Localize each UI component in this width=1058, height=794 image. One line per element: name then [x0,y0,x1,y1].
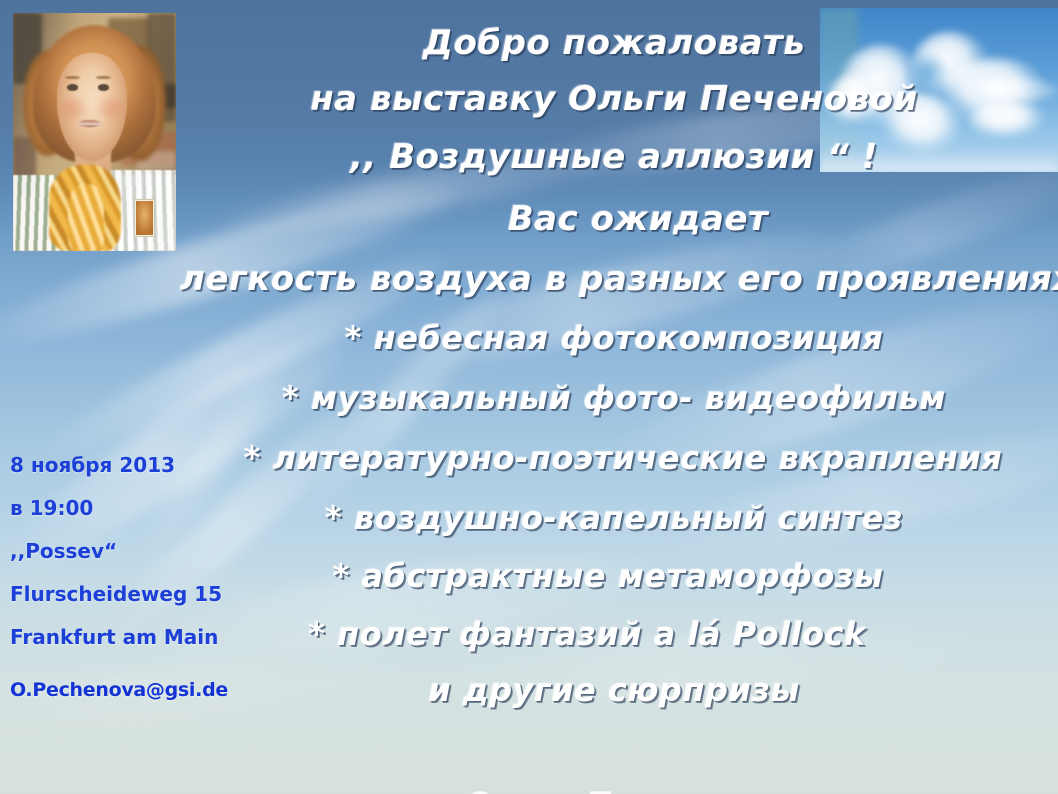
event-details-sidebar: 8 ноября 2013 в 19:00 ,,Possev“ Flursche… [10,455,310,701]
bullet-video-film: * музыкальный фото- видеофильм [180,382,1048,414]
portrait-eyebrow-left [65,76,80,79]
headline-lead-in: легкость воздуха в разных его проявления… [180,262,1048,296]
event-venue: ,,Possev“ [10,541,310,561]
poster-canvas: Добро пожаловать на выставку Ольги Печен… [0,0,1058,794]
portrait-eyebrow-right [96,76,111,79]
portrait-mouth [78,120,101,127]
invitation-text-block: Добро пожаловать на выставку Ольги Печен… [180,14,1048,706]
portrait-name-badge [134,199,155,237]
bullet-surprises: и другие сюрпризы [180,674,1048,706]
cropped-bottom-line: Ольга Печенова [180,788,1048,794]
portrait-cheek-left [62,99,83,118]
portrait-eye-right [98,84,109,90]
bullet-poetry: * литературно-поэтические вкрапления [198,442,1048,474]
headline-awaits: Вас ожидает [228,202,1048,236]
headline-exhibition: на выставку Ольги Печеновой [180,82,1048,116]
portrait-cheek-right [101,99,122,118]
portrait-eye-left [67,84,78,90]
event-time: в 19:00 [10,498,310,518]
portrait-photo [13,13,176,251]
event-street: Flurscheideweg 15 [10,584,310,604]
event-city: Frankfurt am Main [10,627,310,647]
headline-title: ,, Воздушные аллюзии “ ! [180,140,1048,174]
event-date: 8 ноября 2013 [10,455,310,475]
bullet-synthesis: * воздушно-капельный синтез [180,502,1048,534]
cropped-bottom-line-text: Ольга Печенова [465,788,763,794]
headline-welcome: Добро пожаловать [180,26,1048,60]
bullet-photocomposition: * небесная фотокомпозиция [180,322,1048,354]
contact-email[interactable]: O.Pechenova@gsi.de [10,679,310,701]
portrait-scarf-highlight [68,184,104,251]
